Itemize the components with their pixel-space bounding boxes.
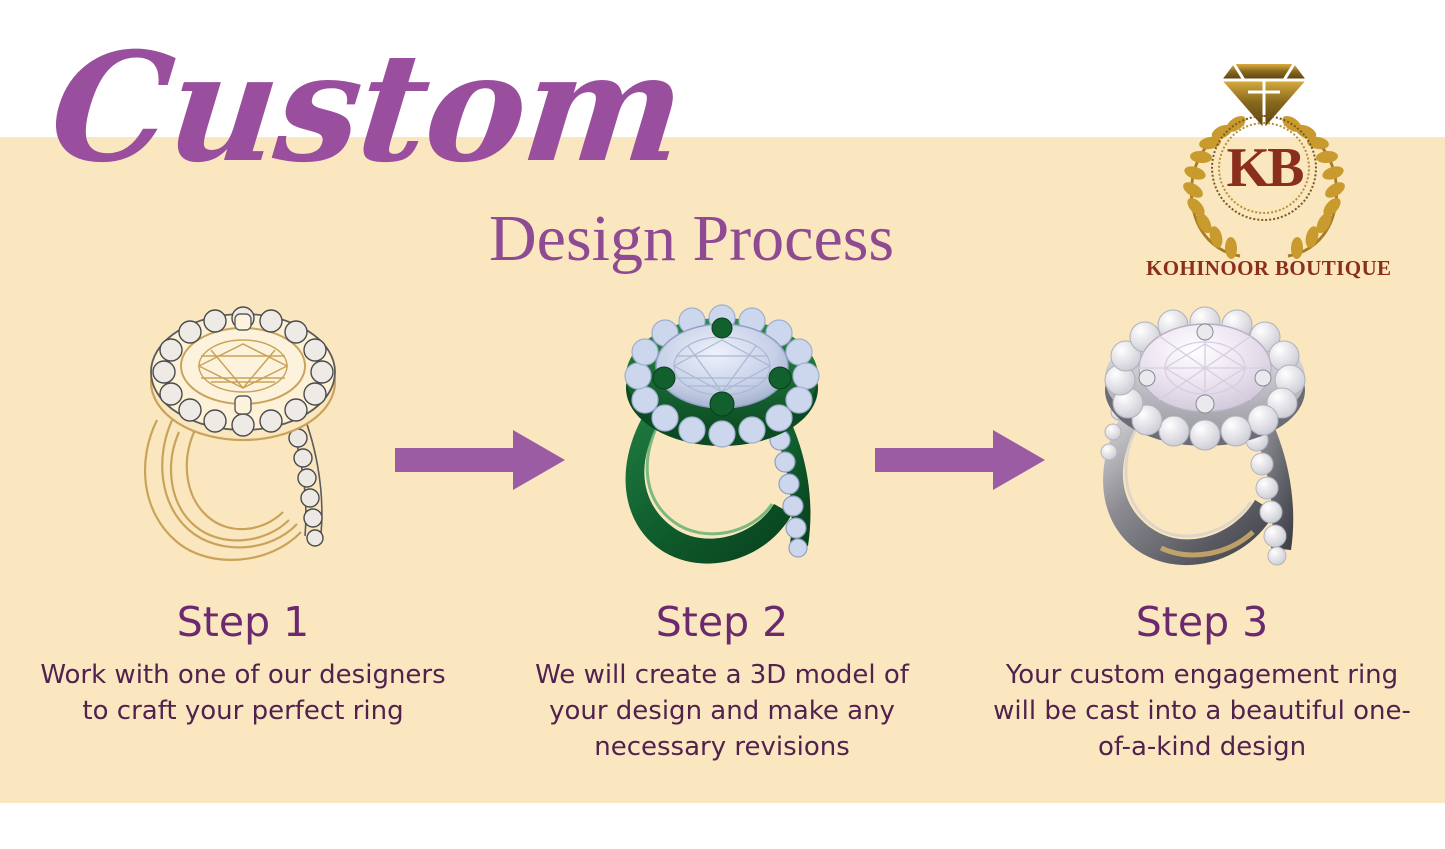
ring-sketch-icon (133, 300, 353, 570)
infographic-canvas: Custom Design Process (0, 0, 1445, 849)
step-title: Step 1 (8, 599, 478, 645)
step-title: Step 2 (487, 599, 957, 645)
ring-photo-icon (1087, 300, 1317, 575)
step-description: We will create a 3D model of your design… (487, 657, 957, 765)
ring-cad-icon (612, 300, 832, 575)
page-subtitle: Design Process (489, 203, 894, 275)
step-3: Step 3 Your custom engagement ring will … (967, 300, 1437, 765)
logo-monogram: KB (1227, 140, 1302, 196)
step-2: Step 2 We will create a 3D model of your… (487, 300, 957, 765)
page-title-script: Custom (41, 8, 703, 218)
step-description: Your custom engagement ring will be cast… (967, 657, 1437, 765)
brand-logo: KB KOHINOOR BOUTIQUE (1146, 52, 1382, 284)
logo-brand-name: KOHINOOR BOUTIQUE (1146, 256, 1382, 281)
step-description: Work with one of our designers to craft … (8, 657, 478, 729)
step-title: Step 3 (967, 599, 1437, 645)
step-1: Step 1 Work with one of our designers to… (8, 300, 478, 729)
background-band-white-bottom (0, 803, 1445, 849)
ring-finished-photo (967, 300, 1437, 585)
